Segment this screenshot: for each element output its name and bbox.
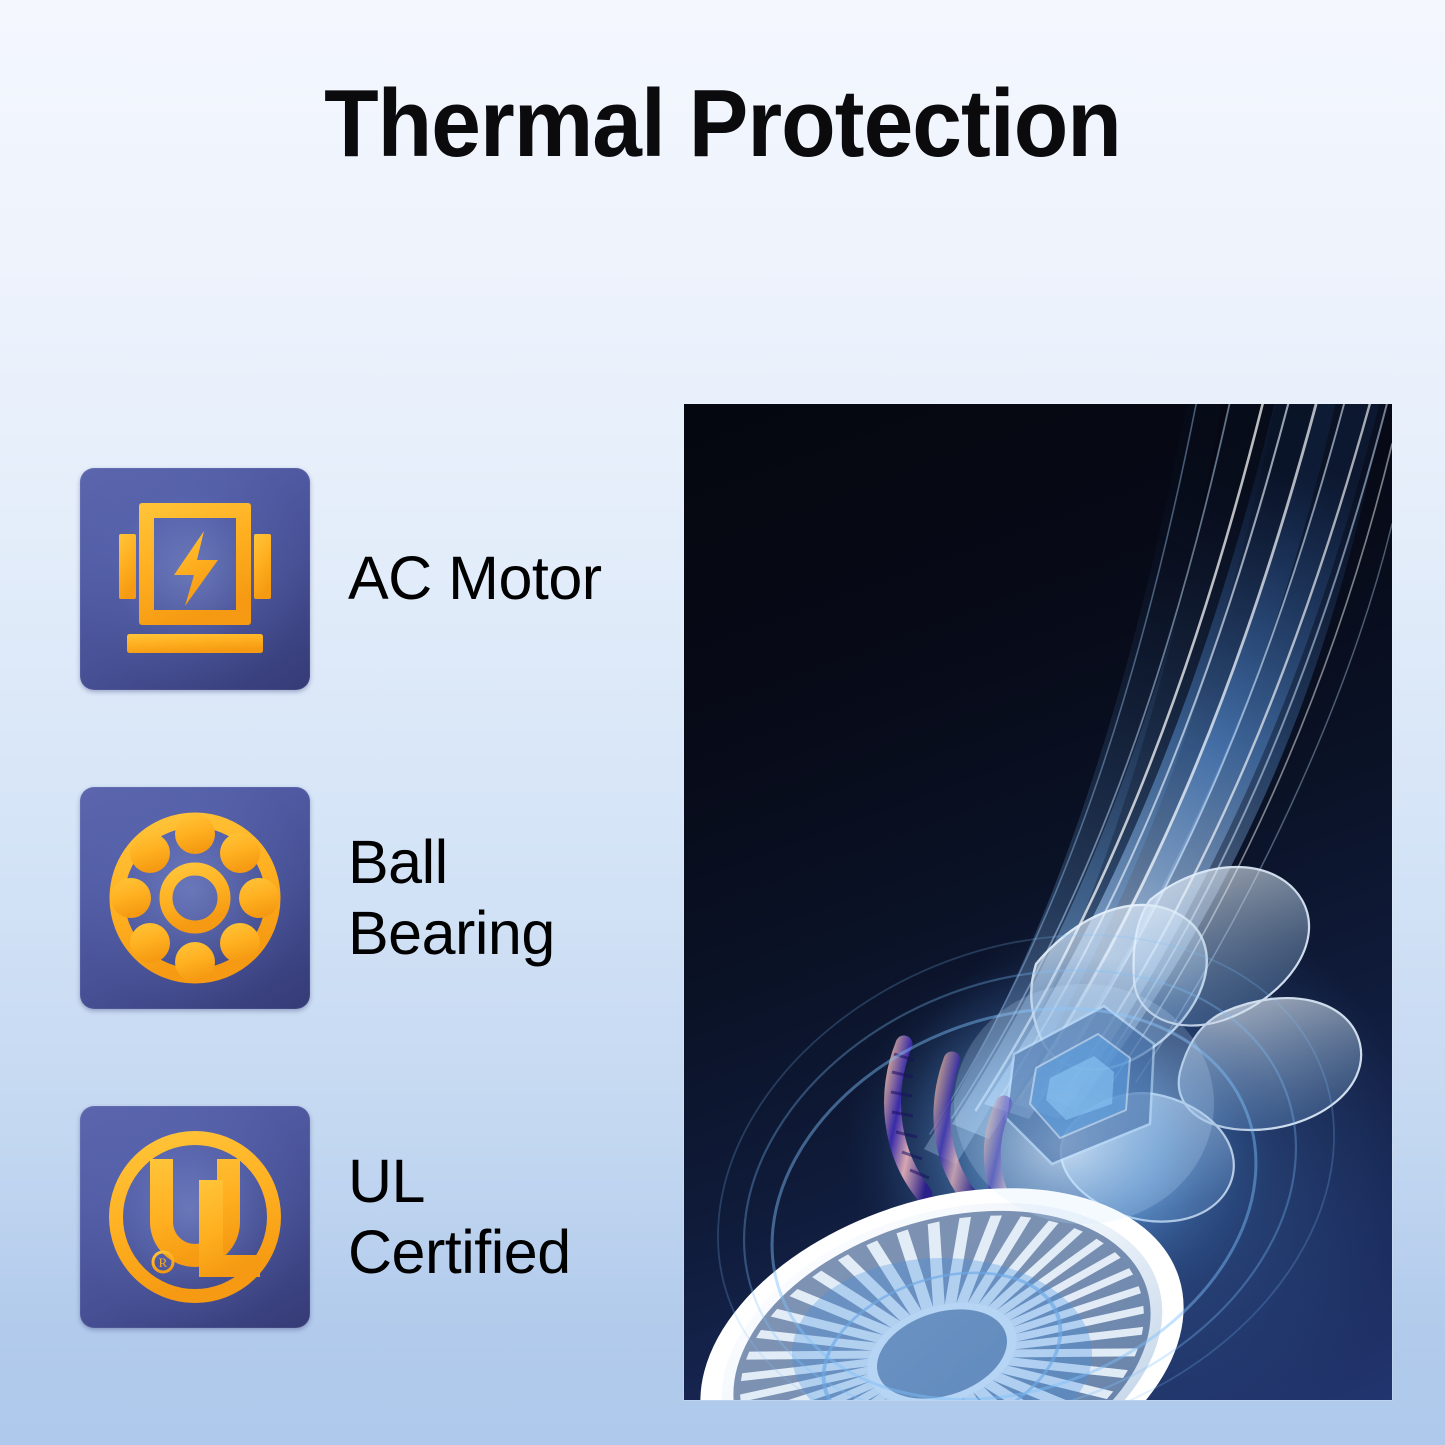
- feature-item-ac-motor: AC Motor: [80, 468, 650, 690]
- ac-motor-icon: [80, 468, 310, 690]
- feature-label-ul-certified: UL Certified: [310, 1146, 571, 1289]
- ul-certified-icon: R: [80, 1106, 310, 1328]
- ball-bearing-icon: [80, 787, 310, 1009]
- feature-item-ul-certified: R UL Certified: [80, 1106, 650, 1328]
- feature-label-ac-motor: AC Motor: [310, 543, 602, 614]
- feature-list: AC Motor: [80, 468, 650, 1328]
- product-photo-illustration: [684, 404, 1392, 1400]
- feature-tile-ul-certified: R: [80, 1106, 310, 1328]
- feature-tile-ball-bearing: [80, 787, 310, 1009]
- feature-item-ball-bearing: Ball Bearing: [80, 787, 650, 1009]
- product-image: [684, 404, 1392, 1400]
- registered-mark-icon: R: [153, 1252, 173, 1272]
- feature-tile-ac-motor: [80, 468, 310, 690]
- svg-text:R: R: [159, 1255, 168, 1270]
- infographic-page: Thermal Protection: [0, 0, 1445, 1445]
- page-title: Thermal Protection: [51, 74, 1395, 175]
- feature-label-ball-bearing: Ball Bearing: [310, 827, 555, 970]
